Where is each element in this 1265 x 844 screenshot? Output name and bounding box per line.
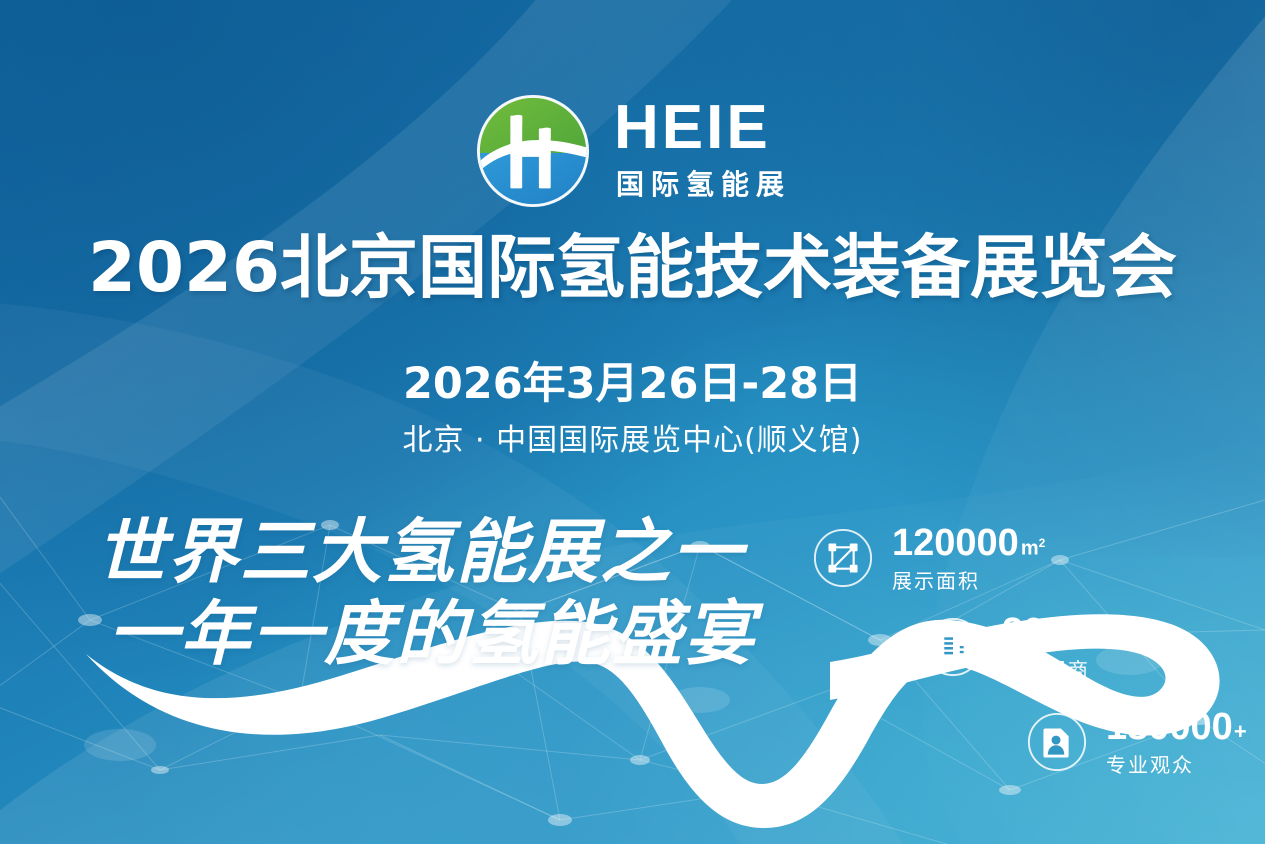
stat-label: 展示面积 xyxy=(892,571,1045,591)
event-venue: 北京 · 中国国际展览中心(顺义馆) xyxy=(0,415,1265,459)
logo-subtitle: 国际氢能展 xyxy=(614,163,791,203)
stat-exhibition-area: 120000m2 展示面积 xyxy=(812,524,1045,591)
brand-lockup: HEIE 国际氢能展 xyxy=(0,92,1265,210)
heie-circle-h-logo-icon xyxy=(474,92,592,210)
stat-value: 2000+ xyxy=(1002,613,1100,651)
slogan: 世界三大氢能展之一 一年一度的氢能盛宴 xyxy=(96,512,756,676)
slogan-line-2: 一年一度的氢能盛宴 xyxy=(96,594,756,676)
stat-professional-visitors: 180000+ 专业观众 xyxy=(1026,708,1247,775)
stat-label: 专业观众 xyxy=(1106,755,1247,775)
stat-value: 120000m2 xyxy=(892,524,1045,562)
area-frame-icon xyxy=(812,527,874,589)
stat-label: 品牌展商 xyxy=(1002,660,1100,680)
slogan-line-1: 世界三大氢能展之一 xyxy=(96,512,756,594)
logo-wordmark: HEIE xyxy=(614,99,771,156)
stat-brand-exhibitors: 2000+ 品牌展商 xyxy=(922,613,1100,680)
stat-value: 180000+ xyxy=(1106,708,1247,746)
stat-number: 2000 xyxy=(1002,613,1087,651)
building-icon xyxy=(922,616,984,678)
stat-number: 180000 xyxy=(1106,708,1233,746)
stat-number: 120000 xyxy=(892,524,1019,562)
visitor-badge-icon xyxy=(1026,711,1088,773)
stat-suffix: + xyxy=(1234,721,1247,743)
event-date: 2026年3月26日-28日 xyxy=(0,349,1265,411)
page-title: 2026北京国际氢能技术装备展览会 xyxy=(0,231,1265,306)
stat-unit: m2 xyxy=(1021,537,1045,559)
stat-suffix: + xyxy=(1088,626,1101,648)
poster-canvas: HEIE 国际氢能展 2026北京国际氢能技术装备展览会 2026年3月26日-… xyxy=(0,0,1265,844)
